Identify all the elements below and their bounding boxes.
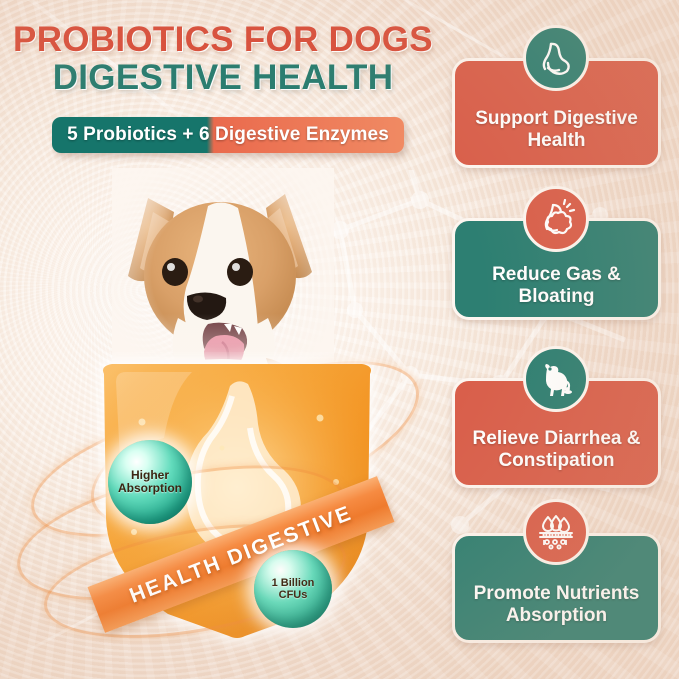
bubble-1-line1: Higher xyxy=(131,469,169,482)
infographic-canvas: PROBIOTICS FOR DOGS DIGESTIVE HEALTH 5 P… xyxy=(0,0,679,679)
bloated-stomach-gas-icon xyxy=(523,186,589,252)
subtitle-pill-banner: 5 Probiotics + 6 Digestive Enzymes xyxy=(52,117,404,153)
bubble-1-line2: Absorption xyxy=(118,482,182,495)
feature-card-2-label: Reduce Gas & Bloating xyxy=(465,255,648,317)
stomach-icon xyxy=(523,25,589,91)
one-billion-cfus-bubble: 1 Billion CFUs xyxy=(254,550,332,628)
feature-card-3-label: Relieve Diarrhea & Constipation xyxy=(465,415,648,485)
subtitle-pill-label: 5 Probiotics + 6 Digestive Enzymes xyxy=(52,117,404,153)
page-title-line1: PROBIOTICS FOR DOGS xyxy=(0,20,446,60)
bubble-2-line2: CFUs xyxy=(279,589,308,601)
higher-absorption-bubble: Higher Absorption xyxy=(108,440,192,524)
dog-pooping-icon xyxy=(523,346,589,412)
nutrient-droplets-absorption-icon xyxy=(523,499,589,565)
health-shield: HEALTH DIGESTIVE Higher Absorption 1 Bil… xyxy=(72,352,402,652)
bubble-2-line1: 1 Billion xyxy=(272,577,315,589)
page-title-line2: DIGESTIVE HEALTH xyxy=(0,58,446,98)
feature-card-1-label: Support Digestive Health xyxy=(465,95,648,165)
feature-card-4-label: Promote Nutrients Absorption xyxy=(465,570,648,640)
